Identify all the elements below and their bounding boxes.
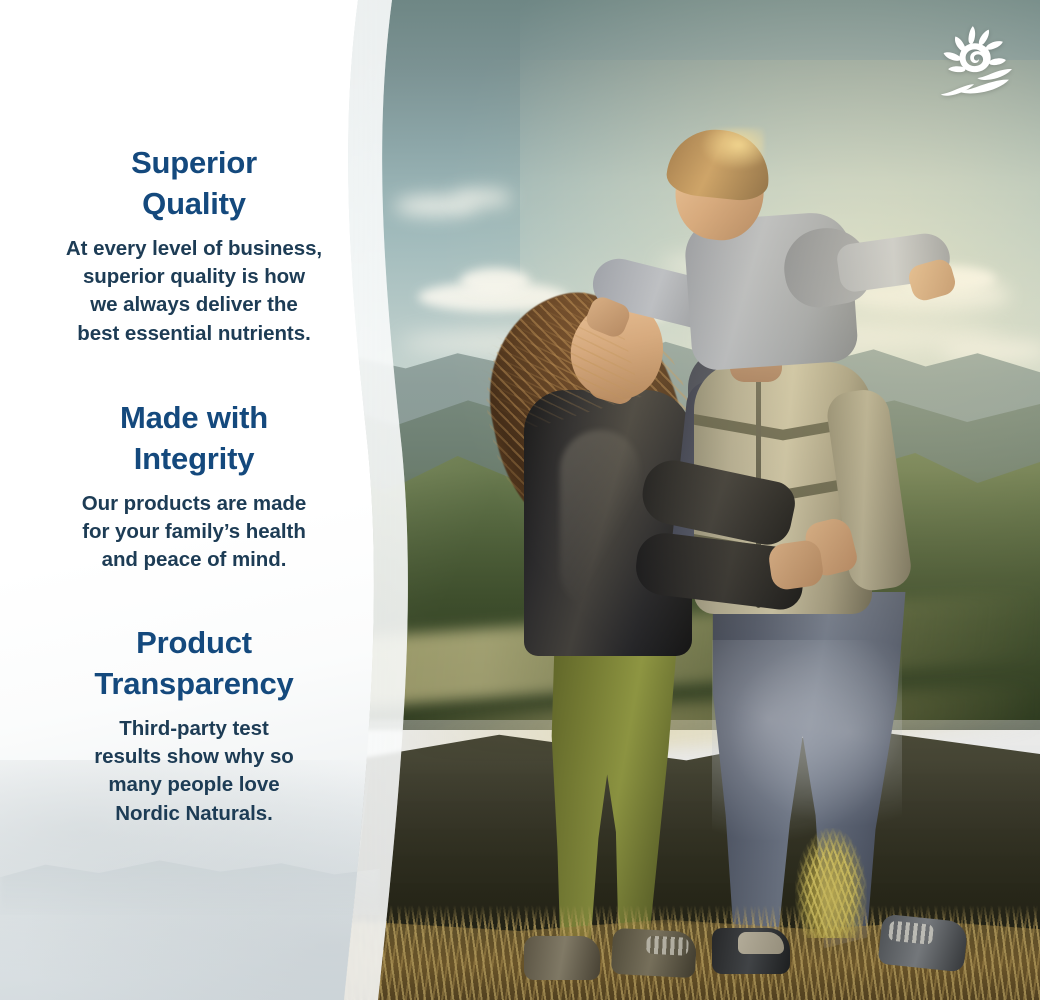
- cloud: [460, 268, 530, 294]
- value-propositions: Superior Quality At every level of busin…: [0, 0, 400, 1000]
- value-block-made-with-integrity: Made with Integrity Our products are mad…: [20, 398, 368, 575]
- woman-left-shoe: [524, 936, 600, 980]
- value-title: Made with Integrity: [20, 398, 368, 480]
- value-title: Product Transparency: [20, 623, 368, 705]
- sun-wave-logo-icon: [938, 22, 1016, 98]
- man-right-shoe: [878, 914, 969, 973]
- value-block-superior-quality: Superior Quality At every level of busin…: [20, 143, 368, 348]
- boy-hair-sunlight: [700, 128, 764, 170]
- value-body: Our products are made for your family’s …: [20, 490, 368, 575]
- value-block-product-transparency: Product Transparency Third-party test re…: [20, 623, 368, 828]
- woman-right-shoe: [611, 928, 697, 978]
- value-title: Superior Quality: [20, 143, 368, 225]
- woman-hand: [767, 539, 825, 592]
- brand-values-poster: Superior Quality At every level of busin…: [0, 0, 1040, 1000]
- value-body: Third-party test results show why so man…: [20, 715, 368, 828]
- yellow-shrub: [795, 828, 867, 938]
- woman-jacket-highlight: [560, 430, 640, 610]
- man-left-shoe: [712, 928, 790, 974]
- value-body: At every level of business, superior qua…: [20, 235, 368, 348]
